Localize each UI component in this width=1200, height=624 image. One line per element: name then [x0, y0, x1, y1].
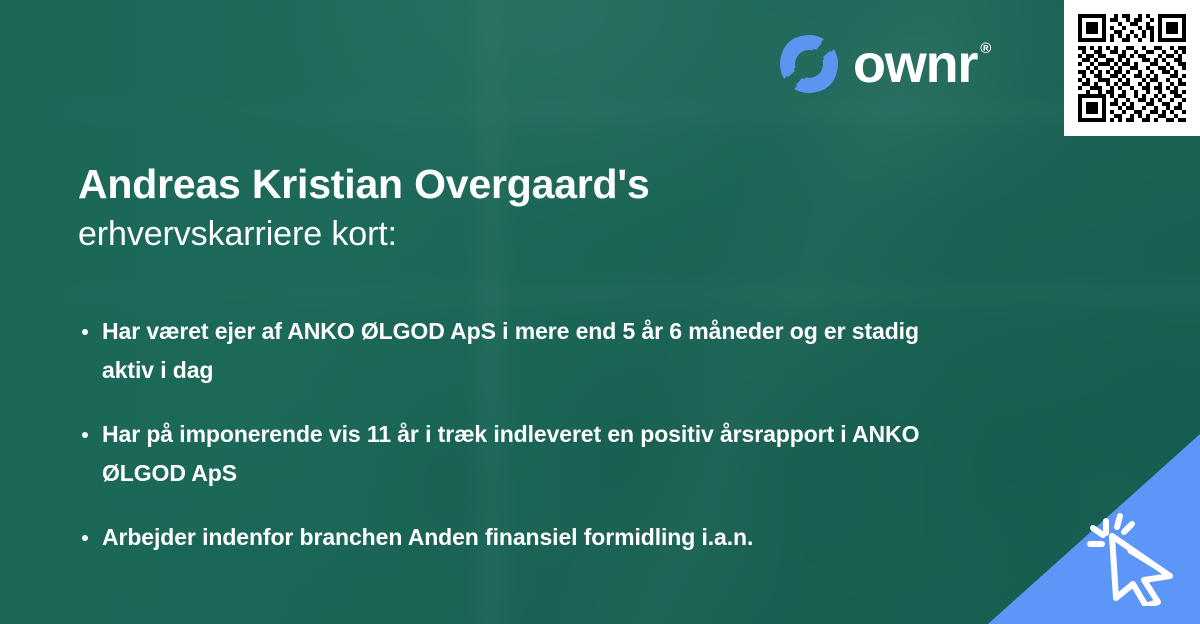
bullet-dot-icon	[82, 535, 88, 541]
click-cursor-icon	[1072, 494, 1178, 606]
ownr-logo[interactable]: ownr ®	[778, 33, 990, 95]
career-highlights-list: Har været ejer af ANKO ØLGOD ApS i mere …	[80, 312, 960, 557]
ownr-career-card: ownr ®	[0, 0, 1200, 624]
list-item: Har været ejer af ANKO ØLGOD ApS i mere …	[80, 312, 922, 390]
list-item-text: Arbejder indenfor branchen Anden finansi…	[102, 524, 753, 550]
wordmark-text: ownr	[853, 37, 977, 91]
page-title: Andreas Kristian Overgaard's erhvervskar…	[78, 158, 838, 258]
ownr-logo-mark	[778, 33, 840, 95]
qr-code[interactable]	[1064, 0, 1200, 136]
qr-code-image	[1074, 10, 1190, 126]
title-line-1: Andreas Kristian Overgaard's	[78, 158, 838, 210]
bullet-dot-icon	[82, 329, 88, 335]
ownr-wordmark: ownr ®	[853, 37, 990, 91]
list-item-text: Har været ejer af ANKO ØLGOD ApS i mere …	[102, 318, 919, 383]
list-item: Arbejder indenfor branchen Anden finansi…	[80, 518, 922, 557]
bullet-dot-icon	[82, 432, 88, 438]
registered-trademark-symbol: ®	[980, 41, 990, 56]
list-item: Har på imponerende vis 11 år i træk indl…	[80, 415, 922, 493]
title-line-2: erhvervskarriere kort:	[78, 210, 838, 258]
list-item-text: Har på imponerende vis 11 år i træk indl…	[102, 421, 919, 486]
